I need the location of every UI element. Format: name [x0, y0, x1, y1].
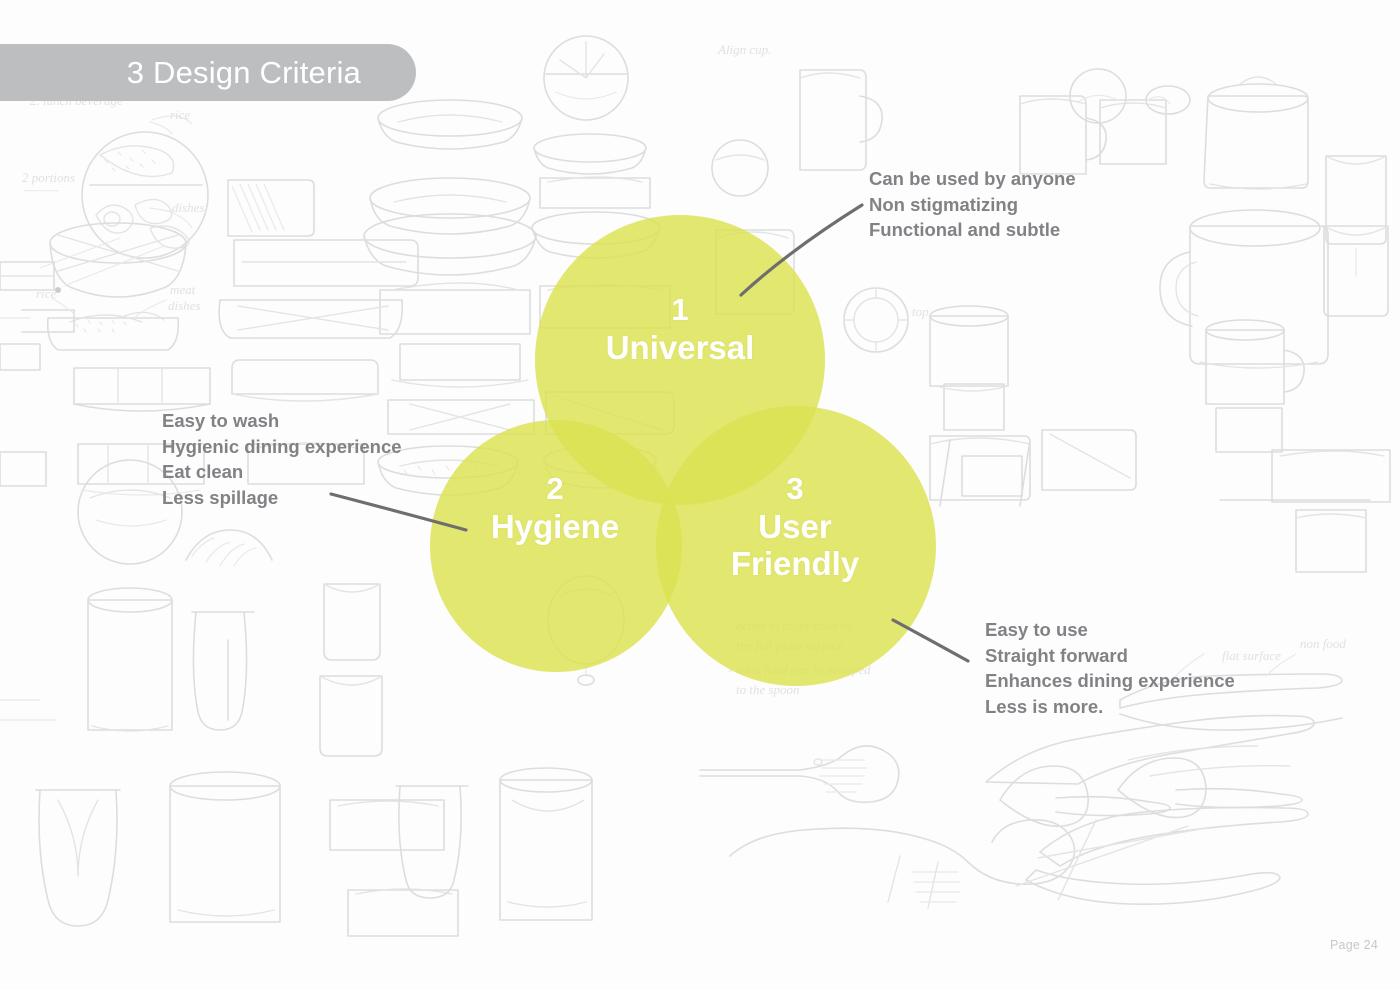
venn-number-1: 1 — [575, 293, 785, 328]
venn-circle-universal — [535, 215, 825, 505]
svg-text:to the spoon: to the spoon — [736, 682, 800, 697]
annotation-universal-line-2: Non stigmatizing — [869, 192, 1076, 218]
sketch-group-handwriting-mid: - better to align bowl to the flat plate… — [728, 618, 871, 697]
title-banner: 3 Design Criteria — [0, 44, 416, 101]
sketch-group-oval-bowl-left — [40, 223, 186, 297]
svg-text:- what food can be scooped: - what food can be scooped — [728, 662, 871, 677]
slide-canvas: .pl { fill:none; stroke:#dcdddf; stroke-… — [0, 0, 1400, 990]
venn-name-1: Universal — [575, 330, 785, 367]
sketch-group-top-left: 2. lunch beverage rice dishes 2 portions… — [22, 93, 208, 258]
svg-text:non food: non food — [1300, 636, 1346, 651]
sketch-group-divided-tray-left: rice meat dishes — [0, 282, 201, 350]
svg-text:meat: meat — [170, 282, 196, 297]
page-title: 3 Design Criteria — [127, 55, 361, 91]
sketch-group-bottom-left-vessels — [36, 530, 592, 936]
svg-text:rice: rice — [36, 286, 56, 301]
venn-number-3: 3 — [695, 472, 895, 507]
annotation-hygiene-line-4: Less spillage — [162, 485, 402, 511]
annotation-hygiene-line-2: Hygienic dining experience — [162, 434, 402, 460]
sketch-group-top-mid — [532, 36, 674, 685]
venn-label-universal: 1 Universal — [575, 293, 785, 367]
annotation-hygiene-line-1: Easy to wash — [162, 408, 402, 434]
svg-text:rice: rice — [170, 107, 190, 122]
annotation-user-friendly-line-1: Easy to use — [985, 617, 1235, 643]
svg-text:top: top — [912, 304, 929, 319]
annotation-hygiene-line-3: Eat clean — [162, 459, 402, 485]
connector-universal — [741, 205, 862, 295]
svg-text:the flat plate surface: the flat plate surface — [736, 638, 843, 653]
svg-text:dishes: dishes — [168, 298, 201, 313]
annotation-universal-line-1: Can be used by anyone — [869, 166, 1076, 192]
sketch-group-big-mug-right — [1160, 210, 1328, 368]
page-number: Page 24 — [1330, 938, 1378, 952]
venn-circle-hygiene — [430, 420, 682, 672]
annotation-hygiene: Easy to wash Hygienic dining experience … — [162, 408, 402, 511]
sketch-group-bottom-left-extra — [0, 262, 56, 720]
sketch-group-right-mid: top — [844, 288, 1390, 572]
annotation-user-friendly: Easy to use Straight forward Enhances di… — [985, 617, 1235, 720]
connector-user-friendly — [893, 620, 968, 661]
venn-connector-lines — [331, 205, 968, 661]
venn-circle-user-friendly — [656, 406, 936, 686]
svg-text:- better to align bowl to: - better to align bowl to — [728, 618, 852, 633]
venn-number-2: 2 — [455, 472, 655, 507]
svg-text:2 portions: 2 portions — [22, 170, 75, 185]
venn-label-user-friendly: 3 User Friendly — [695, 472, 895, 583]
venn-circles — [430, 215, 936, 686]
venn-label-hygiene: 2 Hygiene — [455, 472, 655, 546]
annotation-universal: Can be used by anyone Non stigmatizing F… — [869, 166, 1076, 243]
venn-name-2: Hygiene — [455, 509, 655, 546]
svg-text:Align cup.: Align cup. — [717, 42, 771, 57]
venn-name-3-line2: Friendly — [695, 546, 895, 583]
svg-text:———: ——— — [23, 182, 59, 197]
annotation-user-friendly-line-2: Straight forward — [985, 643, 1235, 669]
annotation-user-friendly-line-4: Less is more. — [985, 694, 1235, 720]
annotation-user-friendly-line-3: Enhances dining experience — [985, 668, 1235, 694]
venn-name-3-line1: User — [695, 509, 895, 546]
annotation-universal-line-3: Functional and subtle — [869, 217, 1076, 243]
svg-text:dishes: dishes — [172, 200, 205, 215]
